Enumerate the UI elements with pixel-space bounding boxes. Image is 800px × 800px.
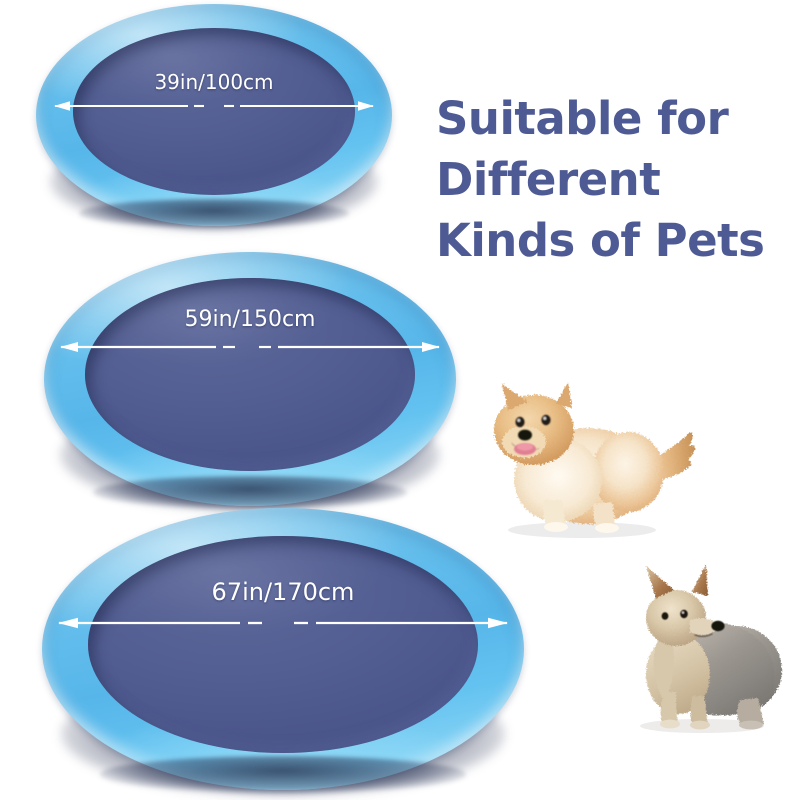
pool-basin-sheen <box>85 278 415 472</box>
pool-basin-sheen <box>88 536 477 753</box>
pool-small: 39in/100cm <box>36 4 392 226</box>
pool-large: 67in/170cm <box>42 508 524 790</box>
pool-basin <box>73 28 355 195</box>
page-title: Suitable for Different Kinds of Pets <box>436 88 796 271</box>
pomeranian-dog <box>462 372 700 544</box>
infographic-canvas: Suitable for Different Kinds of Pets 39i… <box>0 0 800 800</box>
pool-basin <box>88 536 477 753</box>
pool-medium: 59in/150cm <box>44 252 456 506</box>
yorkshire-terrier-dog <box>594 558 800 740</box>
pool-basin <box>85 278 415 472</box>
pool-basin-sheen <box>73 28 355 195</box>
